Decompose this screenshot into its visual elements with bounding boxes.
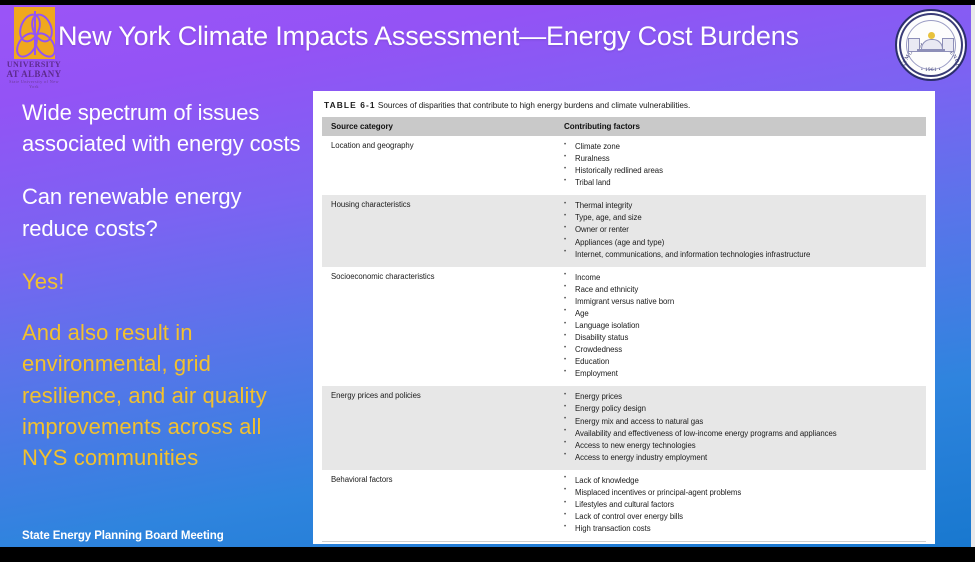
table-cell-contributing-factors: Climate zoneRuralnessHistorically redlin… bbox=[555, 136, 926, 195]
factor-list-item: Tribal land bbox=[564, 177, 926, 189]
column-header-contributing-factors: Contributing factors bbox=[555, 117, 926, 136]
factor-list-item: Historically redlined areas bbox=[564, 165, 926, 177]
table-figure-card: TABLE 6-1 Sources of disparities that co… bbox=[313, 91, 935, 544]
table-cell-source-category: Behavioral factors bbox=[322, 470, 555, 541]
factor-list-item: Income bbox=[564, 272, 926, 284]
table-row: Socioeconomic characteristicsIncomeRace … bbox=[322, 267, 926, 387]
table-cell-contributing-factors: IncomeRace and ethnicityImmigrant versus… bbox=[555, 267, 926, 387]
table-cell-contributing-factors: Thermal integrityType, age, and sizeOwne… bbox=[555, 195, 926, 266]
table-header-row: Source category Contributing factors bbox=[322, 117, 926, 136]
table-cell-source-category: Energy prices and policies bbox=[322, 386, 555, 469]
factor-list-item: Appliances (age and type) bbox=[564, 237, 926, 249]
factor-list: IncomeRace and ethnicityImmigrant versus… bbox=[564, 272, 926, 381]
factor-list-item: Disability status bbox=[564, 332, 926, 344]
factor-list-item: Thermal integrity bbox=[564, 200, 926, 212]
ualbany-logo-line3: State University of New York bbox=[6, 79, 62, 89]
factor-list-item: Energy mix and access to natural gas bbox=[564, 416, 926, 428]
factor-list: Thermal integrityType, age, and sizeOwne… bbox=[564, 200, 926, 260]
table-cell-contributing-factors: Energy pricesEnergy policy designEnergy … bbox=[555, 386, 926, 469]
factor-list: Energy pricesEnergy policy designEnergy … bbox=[564, 391, 926, 463]
factor-list-item: Immigrant versus native born bbox=[564, 296, 926, 308]
slide-footer: State Energy Planning Board Meeting bbox=[22, 530, 224, 542]
table-cell-source-category: Location and geography bbox=[322, 136, 555, 195]
column-header-source-category: Source category bbox=[322, 117, 555, 136]
table-row: Housing characteristicsThermal integrity… bbox=[322, 195, 926, 266]
slide-right-edge bbox=[971, 5, 975, 547]
table-cell-source-category: Socioeconomic characteristics bbox=[322, 267, 555, 387]
factor-list: Climate zoneRuralnessHistorically redlin… bbox=[564, 141, 926, 189]
factor-list-item: Access to new energy technologies bbox=[564, 440, 926, 452]
factor-list: Lack of knowledgeMisplaced incentives or… bbox=[564, 475, 926, 535]
factor-list-item: Access to energy industry employment bbox=[564, 452, 926, 464]
table-caption: TABLE 6-1 Sources of disparities that co… bbox=[313, 91, 935, 117]
factor-list-item: Internet, communications, and informatio… bbox=[564, 249, 926, 261]
table-note-wrapper: Note: Table adapted from Brown et al.54 … bbox=[322, 541, 926, 544]
factor-list-item: Crowdedness bbox=[564, 344, 926, 356]
factor-list-item: Energy policy design bbox=[564, 403, 926, 415]
slide-header: UNIVERSITY AT ALBANY State University of… bbox=[0, 5, 971, 91]
left-text-column: Wide spectrum of issues associated with … bbox=[22, 97, 310, 495]
table-row: Behavioral factorsLack of knowledgeMispl… bbox=[322, 470, 926, 541]
factor-list-item: Employment bbox=[564, 368, 926, 380]
factor-list-item: Energy prices bbox=[564, 391, 926, 403]
factor-list-item: Owner or renter bbox=[564, 224, 926, 236]
ualbany-logo-line2: AT ALBANY bbox=[6, 69, 62, 79]
factor-list-item: Lack of knowledge bbox=[564, 475, 926, 487]
bullet-paragraph-3: Yes! bbox=[22, 266, 310, 297]
factor-list-item: Lifestyles and cultural factors bbox=[564, 499, 926, 511]
factor-list-item: Type, age, and size bbox=[564, 212, 926, 224]
factor-list-item: Misplaced incentives or principal-agent … bbox=[564, 487, 926, 499]
ualbany-logo-line1: UNIVERSITY bbox=[6, 60, 62, 69]
atmospheric-sciences-research-center-seal-icon: ATMOSPHERIC SCIENCES RESEARCH CENTER • 1… bbox=[895, 9, 967, 81]
factor-list-item: Climate zone bbox=[564, 141, 926, 153]
disparity-sources-table: Source category Contributing factors Loc… bbox=[322, 117, 926, 541]
factor-list-item: Race and ethnicity bbox=[564, 284, 926, 296]
presentation-slide: UNIVERSITY AT ALBANY State University of… bbox=[0, 5, 971, 547]
table-caption-text: Sources of disparities that contribute t… bbox=[378, 101, 690, 110]
factor-list-item: High transaction costs bbox=[564, 523, 926, 535]
seal-year: • 1961 • bbox=[897, 68, 965, 73]
table-number-label: TABLE 6-1 bbox=[324, 100, 376, 110]
factor-list-item: Availability and effectiveness of low-in… bbox=[564, 428, 926, 440]
table-cell-contributing-factors: Lack of knowledgeMisplaced incentives or… bbox=[555, 470, 926, 541]
ualbany-tree-mark-icon bbox=[14, 7, 55, 59]
bullet-paragraph-1: Wide spectrum of issues associated with … bbox=[22, 97, 310, 159]
bullet-paragraph-4: And also result in environmental, grid r… bbox=[22, 317, 310, 473]
bullet-paragraph-2: Can renewable energy reduce costs? bbox=[22, 181, 310, 243]
table-row: Energy prices and policiesEnergy pricesE… bbox=[322, 386, 926, 469]
university-at-albany-logo: UNIVERSITY AT ALBANY State University of… bbox=[6, 7, 62, 87]
table-row: Location and geographyClimate zoneRuraln… bbox=[322, 136, 926, 195]
page-title: New York Climate Impacts Assessment—Ener… bbox=[58, 21, 898, 52]
factor-list-item: Language isolation bbox=[564, 320, 926, 332]
factor-list-item: Ruralness bbox=[564, 153, 926, 165]
table-cell-source-category: Housing characteristics bbox=[322, 195, 555, 266]
factor-list-item: Age bbox=[564, 308, 926, 320]
factor-list-item: Lack of control over energy bills bbox=[564, 511, 926, 523]
factor-list-item: Education bbox=[564, 356, 926, 368]
slide-root: UNIVERSITY AT ALBANY State University of… bbox=[0, 0, 975, 562]
